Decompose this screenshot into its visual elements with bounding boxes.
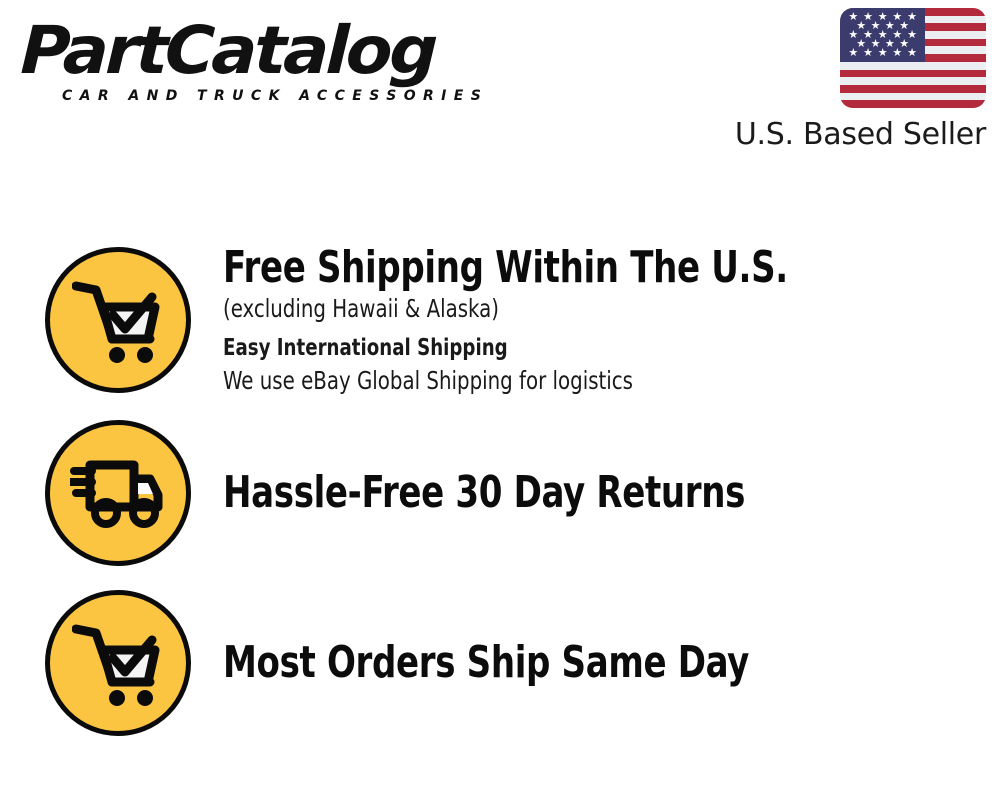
delivery-truck-icon — [45, 420, 191, 566]
feature-headline: Most Orders Ship Same Day — [223, 638, 891, 688]
shopping-cart-check-icon — [45, 247, 191, 393]
brand-name: PartCatalog — [20, 18, 506, 84]
shopping-cart-check-icon — [45, 590, 191, 736]
feature-text: Free Shipping Within The U.S. (excluding… — [223, 243, 1000, 397]
feature-text: Hassle-Free 30 Day Returns — [223, 468, 1000, 518]
feature-subhead: Easy International Shipping — [223, 331, 907, 365]
brand-tagline: CAR AND TRUCK ACCESSORIES — [62, 88, 488, 104]
feature-row: Most Orders Ship Same Day — [0, 578, 1000, 748]
brand-logo[interactable]: PartCatalog CAR AND TRUCK ACCESSORIES — [22, 18, 492, 113]
feature-row: Hassle-Free 30 Day Returns — [0, 408, 1000, 578]
feature-headline: Hassle-Free 30 Day Returns — [223, 468, 891, 518]
feature-text: Most Orders Ship Same Day — [223, 638, 1000, 688]
page-header: PartCatalog CAR AND TRUCK ACCESSORIES ★★… — [0, 0, 1000, 170]
feature-subtext: We use eBay Global Shipping for logistic… — [223, 365, 907, 397]
us-based-seller-label: U.S. Based Seller — [735, 117, 986, 152]
us-flag-icon: ★★★★★ ★★★★ ★★★★★ ★★★★ ★★★★★ — [840, 8, 986, 108]
flag-canton: ★★★★★ ★★★★ ★★★★★ ★★★★ ★★★★★ — [840, 8, 925, 62]
feature-note: (excluding Hawaii & Alaska) — [223, 293, 907, 325]
feature-row: Free Shipping Within The U.S. (excluding… — [0, 232, 1000, 407]
us-based-seller-badge: ★★★★★ ★★★★ ★★★★★ ★★★★ ★★★★★ U.S. Based S… — [735, 8, 986, 152]
feature-headline: Free Shipping Within The U.S. — [223, 243, 891, 293]
